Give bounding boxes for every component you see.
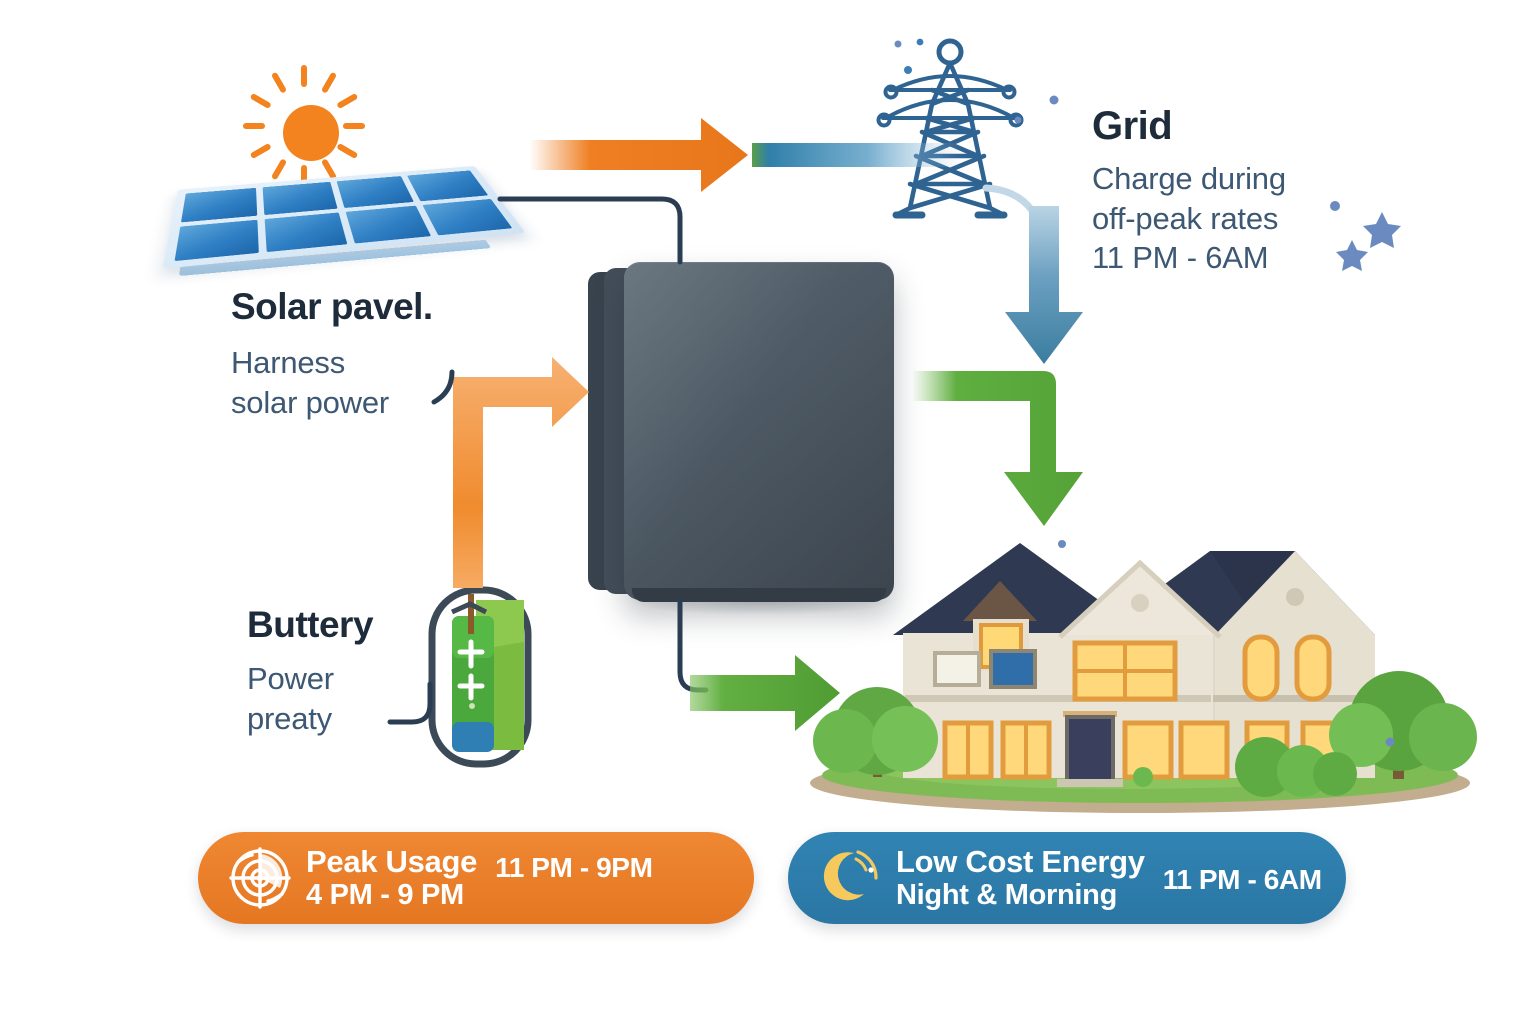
low-cost-energy-subtitle: Night & Morning [896,879,1145,911]
grid-subtitle-line1: Charge during [1092,159,1286,199]
solar-cell [264,212,346,252]
peak-usage-time: 11 PM - 9PM [495,852,652,884]
low-cost-energy-time: 11 PM - 6AM [1163,864,1322,896]
solar-cell [407,170,488,201]
low-cost-energy-pill[interactable]: Low Cost Energy Night & Morning 11 PM - … [788,832,1346,924]
solar-to-unit-connector [500,199,680,262]
peak-usage-title: Peak Usage [306,845,477,878]
crescent-moon-icon [814,842,886,914]
grid-subtitle-line3: 11 PM - 6AM [1092,238,1286,278]
battery-subtitle-line2: preaty [247,699,373,739]
solar-cell [423,199,513,236]
battery-subtitle-line1: Power [247,659,373,699]
solar-cell [181,188,257,222]
infographic-canvas: Solar pavel. Harness solar power Buttery… [0,0,1536,1024]
solar-cell [262,182,337,215]
peak-usage-text: Peak Usage 4 PM - 9 PM [306,845,477,911]
solar-cell [336,176,414,208]
peak-usage-pill[interactable]: Peak Usage 4 PM - 9 PM 11 PM - 9PM [198,832,754,924]
low-cost-energy-text: Low Cost Energy Night & Morning [896,845,1145,911]
grid-subtitle-line2: off-peak rates [1092,199,1286,239]
solar-panel-icon [176,145,506,275]
solar-cell [175,219,259,261]
transmission-tower-icon [860,32,1040,247]
solar-leader-line [434,372,452,402]
solar-to-grid-arrow [529,118,748,192]
low-cost-energy-title: Low Cost Energy [896,845,1145,878]
solar-subtitle-line2: solar power [231,383,433,423]
grid-title: Grid [1092,105,1286,147]
battery-title: Buttery [247,606,373,645]
solar-label-block: Solar pavel. Harness solar power [231,288,433,422]
radar-clock-icon [224,842,296,914]
grid-label-block: Grid Charge during off-peak rates 11 PM … [1092,105,1286,278]
peak-usage-subtitle: 4 PM - 9 PM [306,879,477,911]
unit-to-home-top-arrow [912,371,1083,526]
battery-to-unit-arrow [453,357,589,588]
battery-cell-icon [424,582,536,772]
house-icon [795,525,1485,815]
battery-label-block: Buttery Power preaty [247,606,373,738]
solar-title: Solar pavel. [231,288,433,327]
solar-subtitle-line1: Harness [231,343,433,383]
solar-cell [345,205,431,243]
